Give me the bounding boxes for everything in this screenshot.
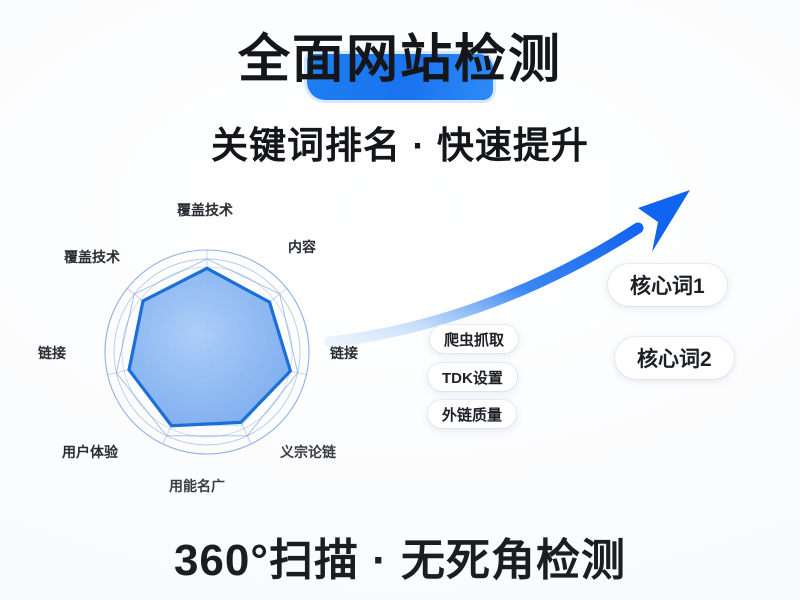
keyword-pill-label: 核心词2 [637,343,712,373]
radar-label-lower-left: 用户体验 [62,442,118,462]
keyword-pill-1[interactable]: 核心词1 [608,264,727,306]
radar-label-top: 覆盖技术 [177,200,233,220]
page-footer-title: 360°扫描 · 无死角检测 [0,524,800,588]
title-part-1: 全面 [238,31,346,89]
tag-pill-label: TDK设置 [442,367,503,388]
radar-series-polygon [129,268,290,425]
tag-pill-label: 外链质量 [442,404,502,425]
page-title: 全面网站检测 [238,32,562,88]
title-part-2: 检测 [454,31,562,89]
radar-label-upper-left: 覆盖技术 [64,247,120,267]
tag-pill-backlink[interactable]: 外链质量 [428,400,516,428]
title-highlight-text: 网站 [346,31,454,89]
radar-label-left: 链接 [38,343,66,363]
arrow-head [638,190,690,252]
radar-label-upper-right: 内容 [288,237,316,257]
tag-pill-crawler[interactable]: 爬虫抓取 [430,325,518,353]
page-subtitle: 关键词排名 · 快速提升 [0,115,800,169]
radar-label-bottom: 用能名广 [169,476,225,496]
keyword-pill-label: 核心词1 [630,270,705,300]
radar-chart: 覆盖技术 内容 链接 义宗论链 用能名广 用户体验 覆盖技术 链接 [30,195,400,515]
radar-label-right: 链接 [330,343,358,363]
radar-label-lower-right: 义宗论链 [280,442,336,462]
tag-pill-tdk[interactable]: TDK设置 [428,363,517,391]
keyword-pill-2[interactable]: 核心词2 [615,337,734,379]
poster-canvas: 全面网站检测 关键词排名 · 快速提升 [0,0,800,600]
radar-data-area [129,268,290,425]
headline-area: 全面网站检测 [0,32,800,88]
tag-pill-label: 爬虫抓取 [444,329,504,350]
